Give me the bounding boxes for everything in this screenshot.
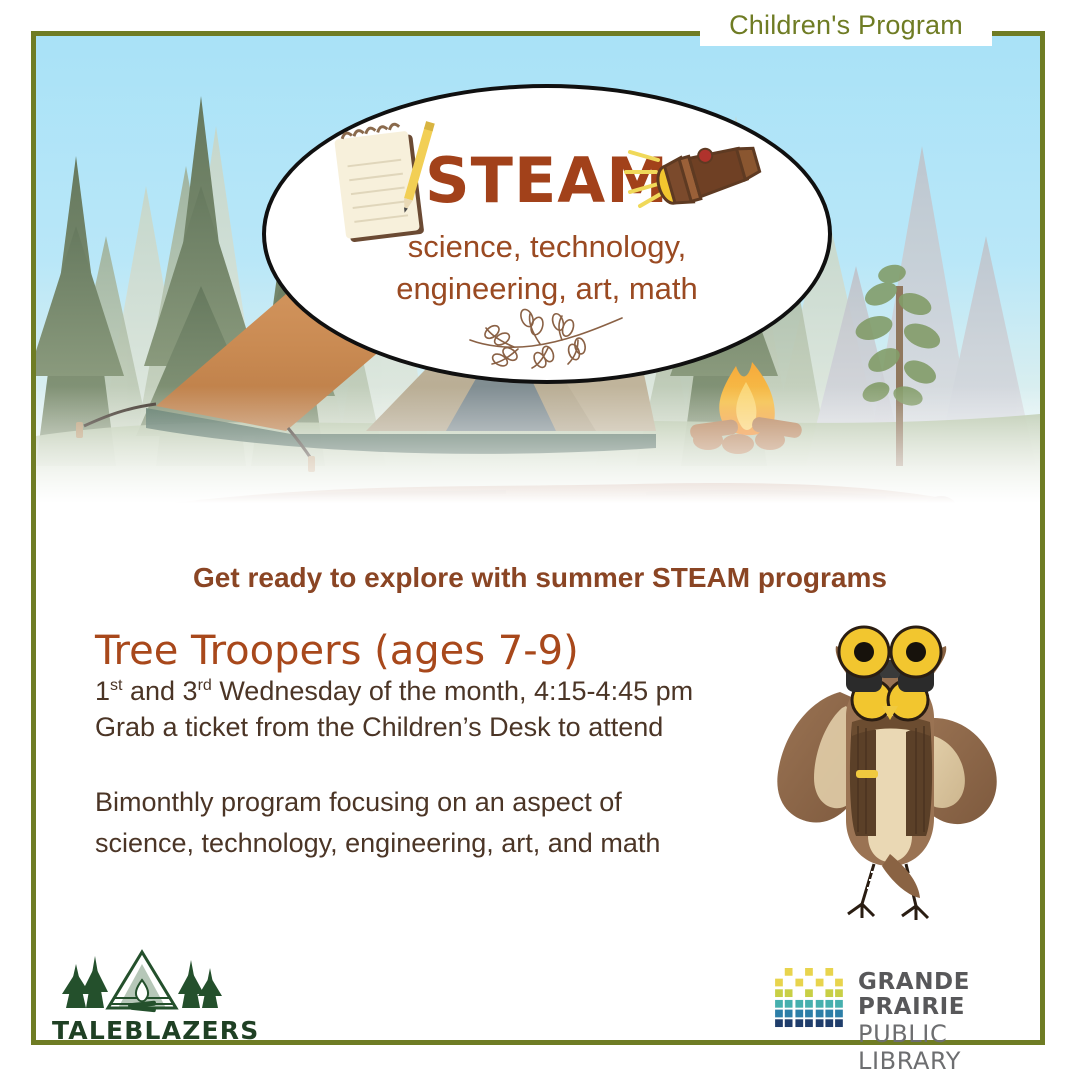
library-name-line-1: GRANDE PRAIRIE bbox=[858, 970, 970, 1021]
schedule-tail: Wednesday of the month, 4:15-4:45 pm bbox=[212, 676, 693, 706]
steam-oval: STEAM science, technology, engineering, … bbox=[262, 84, 832, 384]
schedule-ordinal-2-suffix: rd bbox=[198, 677, 212, 694]
taleblazers-logo: TALEBLAZERS bbox=[52, 938, 232, 1023]
tagline: Get ready to explore with summer STEAM p… bbox=[0, 562, 1080, 594]
tent-campfire-pines-icon bbox=[52, 938, 232, 1018]
schedule-conjunction: and bbox=[122, 676, 182, 706]
schedule-ordinal-1-suffix: st bbox=[110, 677, 122, 694]
schedule-ordinal-2: 3 bbox=[183, 676, 198, 706]
pixel-grid-icon bbox=[772, 968, 844, 1028]
schedule-ordinal-1: 1 bbox=[95, 676, 110, 706]
taleblazers-wordmark: TALEBLAZERS bbox=[52, 1016, 232, 1045]
flashlight-icon bbox=[624, 130, 774, 220]
program-description: Bimonthly program focusing on an aspect … bbox=[95, 782, 767, 863]
schedule-line: 1st and 3rd Wednesday of the month, 4:15… bbox=[95, 676, 693, 707]
poster: STEAM science, technology, engineering, … bbox=[0, 0, 1080, 1080]
botanical-branch-icon bbox=[444, 306, 644, 372]
steam-subtitle-line-2: engineering, art, math bbox=[306, 268, 788, 310]
library-name-line-2: PUBLIC LIBRARY bbox=[858, 1021, 970, 1076]
program-title: Tree Troopers (ages 7-9) bbox=[95, 628, 579, 674]
scene-fade bbox=[36, 386, 1040, 536]
notepad-pencil-icon bbox=[328, 118, 440, 250]
owl-with-binoculars-mascot bbox=[770, 622, 1010, 922]
program-badge: Children's Program bbox=[700, 10, 992, 41]
ticket-line: Grab a ticket from the Children’s Desk t… bbox=[95, 712, 663, 743]
description-line-1: Bimonthly program focusing on an aspect … bbox=[95, 782, 767, 823]
description-line-2: science, technology, engineering, art, a… bbox=[95, 823, 767, 864]
library-wordmark: GRANDE PRAIRIE PUBLIC LIBRARY bbox=[858, 970, 970, 1076]
